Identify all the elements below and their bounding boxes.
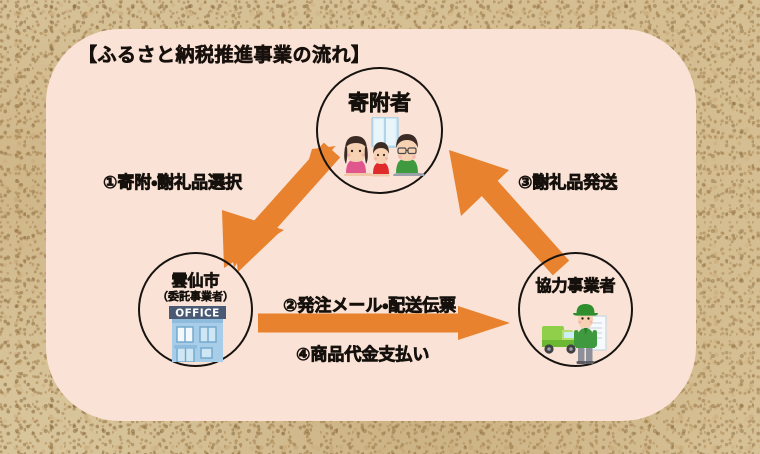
node-city: 雲仙市 （委託事業者） OFFICE (138, 252, 253, 367)
delivery-worker-truck-illustration (540, 302, 616, 364)
page-title: 【ふるさと納税推進事業の流れ】 (78, 40, 371, 67)
family-illustration (332, 117, 431, 177)
node-donor-title: 寄附者 (318, 87, 441, 117)
flow-arrow-3 (437, 146, 569, 272)
node-biz: 協力事業者 (518, 252, 633, 367)
flow-label-4: ④商品代金支払い (296, 340, 429, 365)
flow-label-3: ③謝礼品発送 (518, 168, 617, 193)
node-donor: 寄附者 (316, 67, 443, 194)
node-city-subtitle: （委託事業者） (140, 288, 251, 304)
svg-text:OFFICE: OFFICE (175, 307, 219, 319)
flow-label-2: ②発注メール・配送伝票 (283, 291, 456, 316)
office-building-illustration: OFFICE (167, 306, 228, 362)
flow-label-1: ①寄附・謝礼品選択 (103, 168, 242, 193)
node-biz-title: 協力事業者 (520, 272, 631, 296)
flow-arrow-1 (196, 146, 336, 272)
diagram-canvas: 【ふるさと納税推進事業の流れ】 寄附者 (0, 0, 760, 454)
